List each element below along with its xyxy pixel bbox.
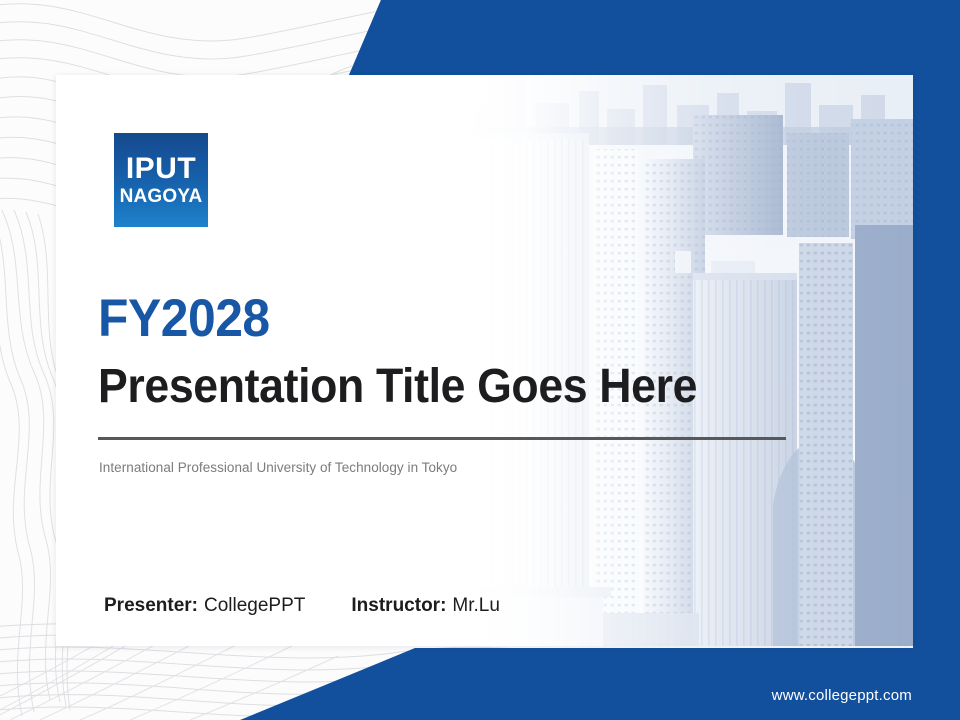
credits-row: Presenter:CollegePPT Instructor:Mr.Lu	[104, 595, 500, 617]
page-title: Presentation Title Goes Here	[98, 361, 768, 413]
presenter-credit: Presenter:CollegePPT	[104, 595, 305, 617]
presenter-label: Presenter:	[104, 595, 198, 616]
instructor-label: Instructor:	[351, 595, 446, 616]
footer-website-url: www.collegeppt.com	[772, 687, 912, 704]
headline-block: FY2028 Presentation Title Goes Here	[98, 292, 818, 413]
university-subtitle: International Professional University of…	[99, 460, 457, 475]
logo-main-text: IPUT	[126, 154, 196, 184]
presenter-value: CollegePPT	[204, 595, 305, 616]
fiscal-year-label: FY2028	[98, 292, 775, 345]
instructor-value: Mr.Lu	[452, 595, 500, 616]
title-divider-rule	[98, 437, 786, 440]
iput-nagoya-logo: IPUT NAGOYA	[114, 133, 208, 227]
logo-sub-text: NAGOYA	[120, 187, 203, 206]
presentation-slide: IPUT NAGOYA FY2028 Presentation Title Go…	[0, 0, 960, 720]
instructor-credit: Instructor:Mr.Lu	[351, 595, 500, 617]
